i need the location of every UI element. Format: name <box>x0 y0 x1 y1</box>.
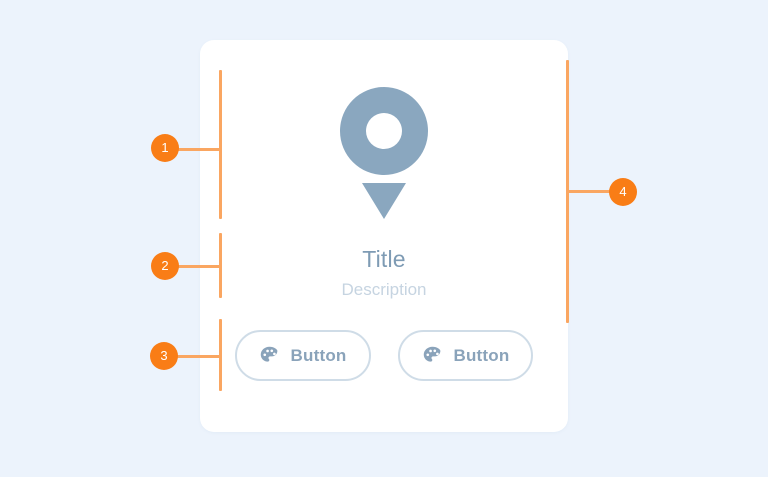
card-button-row: Button Button <box>235 330 534 381</box>
annotation-leader-1 <box>178 148 220 151</box>
screenshot-canvas: Title Description Button <box>0 0 768 477</box>
annotation-marker-4[interactable]: 4 <box>609 178 637 206</box>
card-button-1-label: Button <box>291 346 347 366</box>
palette-icon <box>422 345 443 366</box>
card-button-2[interactable]: Button <box>398 330 534 381</box>
map-pin-icon <box>336 87 432 219</box>
annotation-marker-2[interactable]: 2 <box>151 252 179 280</box>
card-inner: Title Description Button <box>200 40 568 432</box>
annotation-bracket-1 <box>219 70 222 219</box>
annotation-leader-3 <box>177 355 220 358</box>
annotation-marker-1[interactable]: 1 <box>151 134 179 162</box>
content-card: Title Description Button <box>200 40 568 432</box>
card-title: Title <box>362 246 406 273</box>
palette-icon <box>259 345 280 366</box>
annotation-marker-3[interactable]: 3 <box>150 342 178 370</box>
card-description: Description <box>341 279 426 300</box>
card-button-1[interactable]: Button <box>235 330 371 381</box>
card-button-2-label: Button <box>454 346 510 366</box>
annotation-leader-4 <box>566 190 610 193</box>
annotation-leader-2 <box>178 265 220 268</box>
